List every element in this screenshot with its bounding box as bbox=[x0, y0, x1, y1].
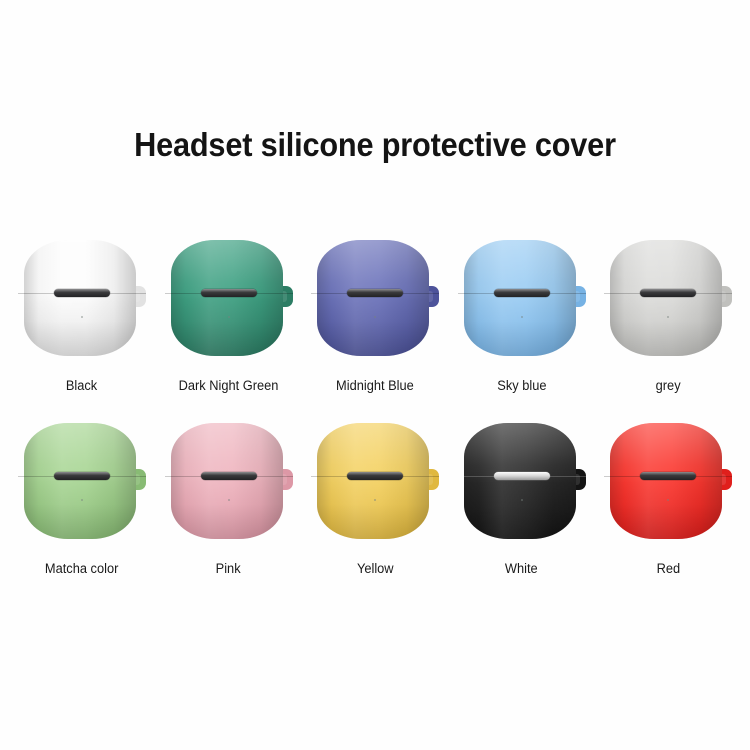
case-image bbox=[18, 421, 146, 541]
led-indicator-dot-icon bbox=[228, 499, 230, 501]
color-label: Red bbox=[656, 561, 680, 576]
led-indicator-dot-icon bbox=[374, 316, 376, 318]
lid-slot-icon bbox=[494, 472, 550, 480]
product-option[interactable]: grey bbox=[598, 238, 738, 393]
color-label: White bbox=[505, 561, 538, 576]
case-image bbox=[604, 238, 732, 358]
led-indicator-dot-icon bbox=[521, 316, 523, 318]
product-color-options-page: Headset silicone protective cover Black bbox=[0, 0, 750, 750]
case-body bbox=[464, 423, 576, 539]
lid-slot-icon bbox=[347, 289, 403, 297]
case-image bbox=[458, 238, 586, 358]
led-indicator-dot-icon bbox=[228, 316, 230, 318]
case-body bbox=[317, 240, 429, 356]
product-option[interactable]: Pink bbox=[159, 421, 299, 576]
lid-slot-icon bbox=[347, 472, 403, 480]
page-title-container: Headset silicone protective cover bbox=[0, 126, 750, 164]
case-body bbox=[171, 240, 283, 356]
case-image bbox=[604, 421, 732, 541]
case-image bbox=[311, 421, 439, 541]
case-body bbox=[464, 240, 576, 356]
case-image bbox=[458, 421, 586, 541]
case-body bbox=[317, 423, 429, 539]
led-indicator-dot-icon bbox=[667, 316, 669, 318]
led-indicator-dot-icon bbox=[374, 499, 376, 501]
lid-slot-icon bbox=[54, 289, 110, 297]
lid-slot-icon bbox=[54, 472, 110, 480]
lid-slot-icon bbox=[494, 289, 550, 297]
color-label: Sky blue bbox=[497, 378, 546, 393]
product-option[interactable]: Sky blue bbox=[452, 238, 592, 393]
led-indicator-dot-icon bbox=[81, 499, 83, 501]
product-option[interactable]: Red bbox=[598, 421, 738, 576]
case-image bbox=[18, 238, 146, 358]
product-row-2: Matcha color Pink bbox=[0, 421, 750, 576]
color-label: Black bbox=[66, 378, 97, 393]
lid-slot-icon bbox=[201, 289, 257, 297]
case-body bbox=[610, 423, 722, 539]
led-indicator-dot-icon bbox=[521, 499, 523, 501]
product-option[interactable]: Matcha color bbox=[12, 421, 152, 576]
color-label: Matcha color bbox=[45, 561, 118, 576]
color-label: Midnight Blue bbox=[336, 378, 414, 393]
case-body bbox=[24, 423, 136, 539]
case-body bbox=[610, 240, 722, 356]
product-option[interactable]: Midnight Blue bbox=[305, 238, 445, 393]
lid-slot-icon bbox=[201, 472, 257, 480]
case-body bbox=[24, 240, 136, 356]
color-label: Pink bbox=[216, 561, 241, 576]
product-option[interactable]: Yellow bbox=[305, 421, 445, 576]
product-option[interactable]: Dark Night Green bbox=[159, 238, 299, 393]
product-option[interactable]: Black bbox=[12, 238, 152, 393]
led-indicator-dot-icon bbox=[81, 316, 83, 318]
product-grid: Black Dark Night Green bbox=[0, 238, 750, 576]
page-title: Headset silicone protective cover bbox=[134, 126, 616, 164]
color-label: Yellow bbox=[357, 561, 394, 576]
case-image bbox=[165, 238, 293, 358]
case-image bbox=[165, 421, 293, 541]
lid-slot-icon bbox=[640, 472, 696, 480]
case-image bbox=[311, 238, 439, 358]
led-indicator-dot-icon bbox=[667, 499, 669, 501]
color-label: Dark Night Green bbox=[179, 378, 279, 393]
product-option[interactable]: White bbox=[452, 421, 592, 576]
case-body bbox=[171, 423, 283, 539]
product-row-1: Black Dark Night Green bbox=[0, 238, 750, 393]
lid-slot-icon bbox=[640, 289, 696, 297]
color-label: grey bbox=[656, 378, 681, 393]
